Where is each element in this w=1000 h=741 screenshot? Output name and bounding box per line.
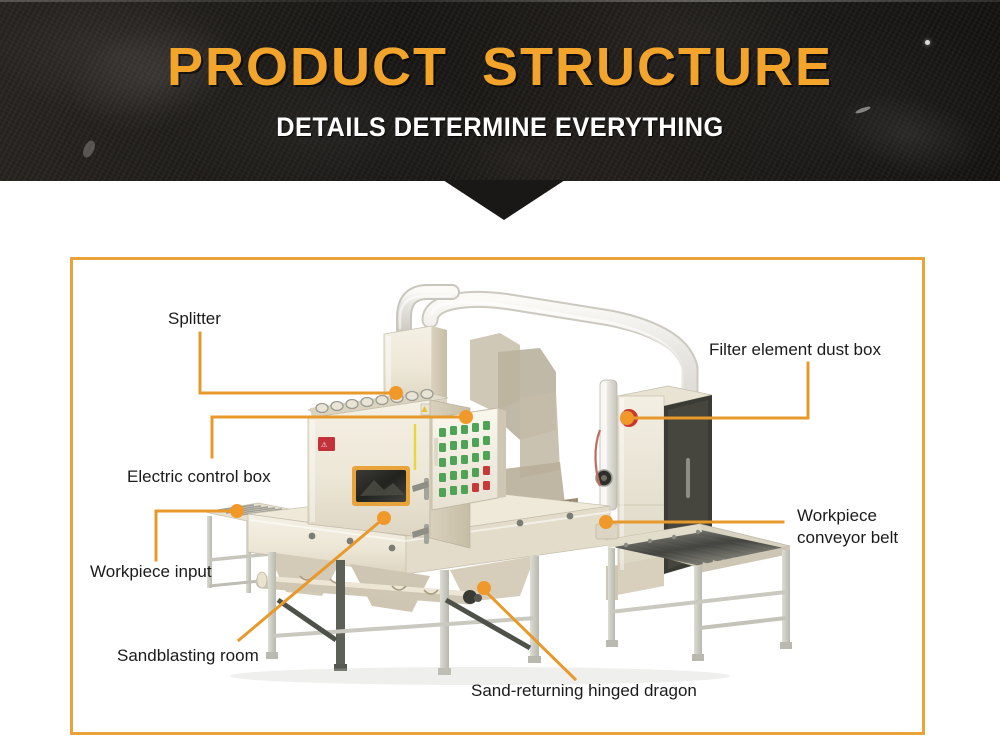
callout-label-filter-element-dust-box: Filter element dust box	[709, 339, 881, 360]
callout-label-sandblasting-room: Sandblasting room	[117, 645, 259, 666]
callout-label-workpiece-conveyor-line2: conveyor belt	[797, 527, 898, 548]
page-subtitle: DETAILS DETERMINE EVERYTHING	[30, 112, 970, 142]
callout-label-workpiece-input: Workpiece input	[90, 561, 212, 582]
callout-label-electric-control-box: Electric control box	[127, 466, 271, 487]
callout-label-sand-returning-hinged-dragon: Sand-returning hinged dragon	[471, 680, 697, 701]
banner-top-highlight	[0, 0, 1000, 2]
callout-label-splitter: Splitter	[168, 308, 221, 329]
page-title: PRODUCT STRUCTURE	[0, 38, 1000, 96]
callout-label-workpiece-conveyor-line1: Workpiece	[797, 505, 877, 526]
banner-chevron-down-icon	[443, 180, 565, 220]
